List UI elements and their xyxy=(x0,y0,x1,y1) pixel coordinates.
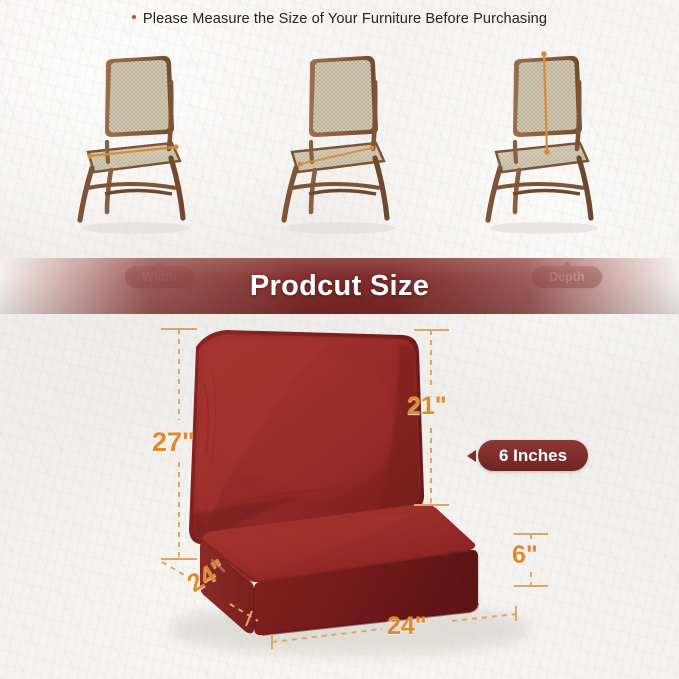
cushion-set-illustration xyxy=(0,314,679,679)
chair-illustration xyxy=(50,42,220,247)
product-illustration-area xyxy=(0,314,679,679)
left-arrow-icon xyxy=(467,450,476,462)
dimension-label-seat-width: 24" xyxy=(387,612,427,641)
page-headline: Please Measure the Size of Your Furnitur… xyxy=(0,11,679,27)
dimension-label-back-height: 21" xyxy=(407,392,447,421)
bullet-dot-icon xyxy=(132,15,136,19)
product-size-infographic: Please Measure the Size of Your Furnitur… xyxy=(0,0,679,679)
dimension-label-seat-thickness: 6" xyxy=(512,541,538,570)
chair-depth: Depth xyxy=(226,42,452,247)
chair-illustration-row: Width xyxy=(0,42,679,247)
headline-text: Please Measure the Size of Your Furnitur… xyxy=(143,11,547,27)
chair-illustration xyxy=(254,42,424,247)
dimension-label-total-height: 27" xyxy=(152,427,195,458)
banner-title: Prodcut Size xyxy=(0,258,679,314)
thickness-callout-badge: 6 Inches xyxy=(478,440,588,471)
section-banner: Prodcut Size xyxy=(0,258,679,314)
chair-height: Height xyxy=(430,42,656,247)
thickness-callout-text: 6 Inches xyxy=(499,446,567,465)
chair-width: Width xyxy=(22,42,248,247)
chair-illustration xyxy=(458,42,628,247)
